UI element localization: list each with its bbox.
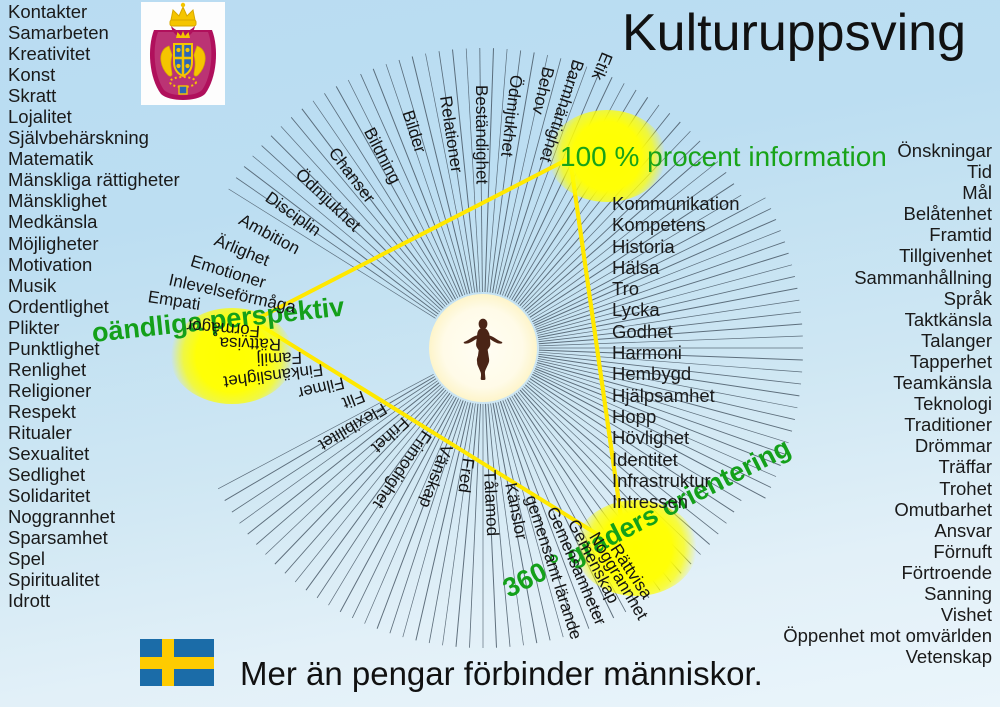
word-item: Hjälpsamhet bbox=[612, 385, 740, 406]
word-item: Framtid bbox=[783, 224, 992, 245]
word-item: Samarbeten bbox=[8, 22, 180, 43]
word-item: Önskningar bbox=[783, 140, 992, 161]
word-item: Matematik bbox=[8, 148, 180, 169]
word-item: Självbehärskning bbox=[8, 127, 180, 148]
word-item: Öppenhet mot omvärlden bbox=[783, 625, 992, 646]
word-item: Noggrannhet bbox=[8, 506, 180, 527]
spoke-label: Beständighet bbox=[471, 85, 492, 184]
word-item: Ansvar bbox=[783, 520, 992, 541]
word-item: Sexualitet bbox=[8, 443, 180, 464]
word-item: Sanning bbox=[783, 583, 992, 604]
word-list-right: ÖnskningarTidMålBelåtenhetFramtidTillgiv… bbox=[783, 140, 992, 667]
word-item: Tapperhet bbox=[783, 351, 992, 372]
word-item: Infrastruktur bbox=[612, 470, 740, 491]
word-item: Ritualer bbox=[8, 422, 180, 443]
word-item: Respekt bbox=[8, 401, 180, 422]
word-item: Tid bbox=[783, 161, 992, 182]
word-item: Motivation bbox=[8, 254, 180, 275]
word-item: Talanger bbox=[783, 330, 992, 351]
word-item: Vishet bbox=[783, 604, 992, 625]
word-item: Lojalitet bbox=[8, 106, 180, 127]
word-item: Förnuft bbox=[783, 541, 992, 562]
word-item: Sammanhållning bbox=[783, 267, 992, 288]
word-item: Solidaritet bbox=[8, 485, 180, 506]
page-title: Kulturuppsving bbox=[622, 3, 966, 63]
word-item: Sparsamhet bbox=[8, 527, 180, 548]
word-item: Kompetens bbox=[612, 214, 740, 235]
word-item: Mänsklighet bbox=[8, 190, 180, 211]
word-item: Vetenskap bbox=[783, 646, 992, 667]
word-item: Punktlighet bbox=[8, 338, 180, 359]
word-item: Språk bbox=[783, 288, 992, 309]
word-item: Teamkänsla bbox=[783, 372, 992, 393]
word-item: Kreativitet bbox=[8, 43, 180, 64]
word-item: Möjligheter bbox=[8, 233, 180, 254]
word-item: Drömmar bbox=[783, 435, 992, 456]
word-item: Mänskliga rättigheter bbox=[8, 169, 180, 190]
spoke-label: Tålamod bbox=[479, 470, 502, 537]
word-item: Hopp bbox=[612, 406, 740, 427]
word-item: Hembygd bbox=[612, 363, 740, 384]
word-item: Tillgivenhet bbox=[783, 245, 992, 266]
word-item: Traditioner bbox=[783, 414, 992, 435]
word-item: Renlighet bbox=[8, 359, 180, 380]
word-item: Kommunikation bbox=[612, 193, 740, 214]
word-item: Belåtenhet bbox=[783, 203, 992, 224]
center-medallion bbox=[429, 294, 537, 402]
word-item: Konst bbox=[8, 64, 180, 85]
word-item: Harmoni bbox=[612, 342, 740, 363]
word-item: Spel bbox=[8, 548, 180, 569]
word-item: Mål bbox=[783, 182, 992, 203]
word-item: Sedlighet bbox=[8, 464, 180, 485]
yoga-tree-pose-silhouette-icon bbox=[453, 316, 513, 380]
word-item: Spiritualitet bbox=[8, 569, 180, 590]
word-list-center: KommunikationKompetensHistoriaHälsaTroLy… bbox=[612, 193, 740, 512]
word-item: Skratt bbox=[8, 85, 180, 106]
word-item: Historia bbox=[612, 236, 740, 257]
word-item: Religioner bbox=[8, 380, 180, 401]
word-item: Kontakter bbox=[8, 1, 180, 22]
word-item: Träffar bbox=[783, 456, 992, 477]
word-item: Hälsa bbox=[612, 257, 740, 278]
word-item: Tro bbox=[612, 278, 740, 299]
word-item: Förtroende bbox=[783, 562, 992, 583]
word-item: Trohet bbox=[783, 478, 992, 499]
word-item: Omutbarhet bbox=[783, 499, 992, 520]
footer-caption: Mer än pengar förbinder människor. bbox=[240, 655, 763, 693]
word-item: Lycka bbox=[612, 299, 740, 320]
word-item: Idrott bbox=[8, 590, 180, 611]
swedish-flag-icon bbox=[140, 639, 214, 686]
word-item: Hövlighet bbox=[612, 427, 740, 448]
word-item: Plikter bbox=[8, 317, 180, 338]
word-item: Identitet bbox=[612, 449, 740, 470]
word-item: Taktkänsla bbox=[783, 309, 992, 330]
word-item: Teknologi bbox=[783, 393, 992, 414]
word-item: Medkänsla bbox=[8, 211, 180, 232]
word-item: Godhet bbox=[612, 321, 740, 342]
word-item: Intressen bbox=[612, 491, 740, 512]
poster-canvas: Kulturuppsving 100 % procent information… bbox=[0, 0, 1000, 707]
